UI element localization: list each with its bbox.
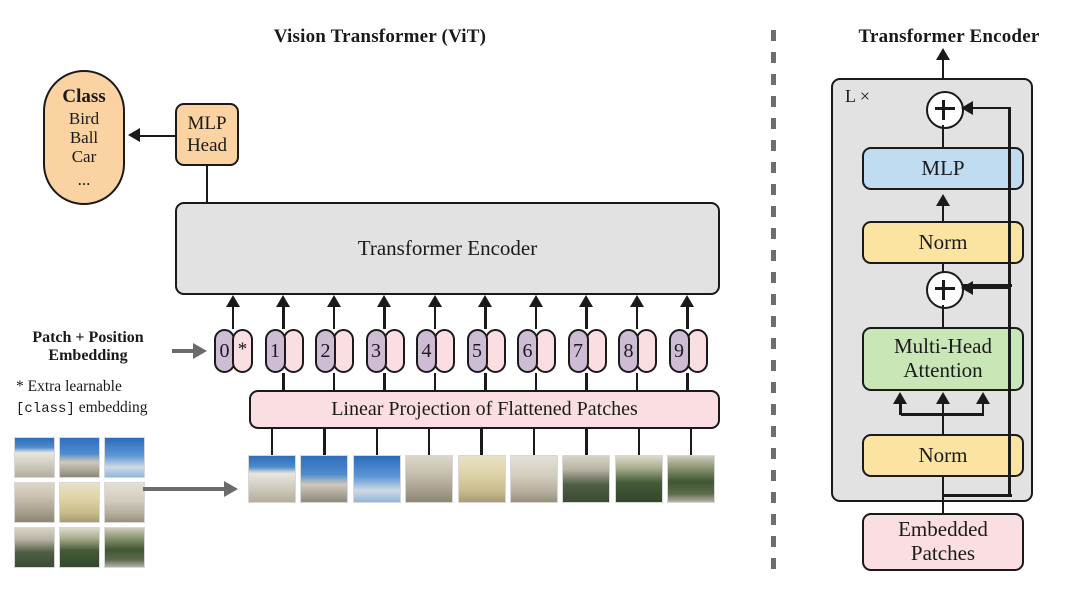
token-number-9: 9: [669, 329, 690, 373]
linear-projection-to-token-line-4: [434, 373, 437, 391]
mha-label-line1: Multi-Head: [894, 335, 992, 359]
token-6: 6: [517, 329, 556, 373]
flattened-patch-4: [458, 455, 506, 503]
token-number-1: 1: [265, 329, 286, 373]
mlp-block-label: MLP: [921, 157, 964, 181]
token-to-encoder-arrowhead-8: [630, 295, 644, 307]
residual-bottom-vline-right: [1008, 288, 1011, 496]
transformer-encoder-block: Transformer Encoder: [175, 202, 720, 295]
flattened-patch-6: [562, 455, 610, 503]
patch-to-linear-projection-line-7: [638, 428, 641, 456]
token-to-encoder-line-1: [282, 307, 285, 329]
token-position-8: [636, 329, 657, 373]
token-to-encoder-arrowhead-1: [276, 295, 290, 307]
encoder-to-mlp-head-line: [206, 166, 209, 202]
token-position-5: [485, 329, 506, 373]
linear-projection-to-token-line-9: [686, 373, 689, 391]
token-number-5: 5: [467, 329, 488, 373]
class-item-ellipsis: ...: [78, 170, 91, 189]
residual-top-vline-right: [1008, 108, 1011, 287]
token-number-7: 7: [568, 329, 589, 373]
linear-projection-to-token-line-6: [535, 373, 538, 391]
class-item-ball: Ball: [70, 128, 98, 147]
token-number-6: 6: [517, 329, 538, 373]
token-9: 9: [669, 329, 708, 373]
token-to-encoder-arrowhead-6: [529, 295, 543, 307]
embedding-label-arrowhead: [193, 343, 207, 359]
class-item-car: Car: [72, 147, 97, 166]
token-to-encoder-line-2: [333, 307, 336, 329]
token-position-1: [283, 329, 304, 373]
mlp-to-class-arrowhead: [128, 128, 140, 142]
qkv-arrow-q-line: [899, 404, 902, 415]
embedded-patches-line1: Embedded: [898, 518, 988, 542]
linear-projection-to-token-line-7: [585, 373, 588, 391]
source-patch-r2-c0: [14, 527, 55, 568]
patch-to-linear-projection-line-8: [690, 428, 693, 456]
qkv-arrow-k-line: [942, 404, 945, 434]
mlp-block: MLP: [862, 147, 1024, 190]
source-patch-r1-c2: [104, 482, 145, 523]
patch-to-linear-projection-line-0: [271, 428, 274, 456]
token-to-encoder-line-3: [383, 307, 386, 329]
patch-to-linear-projection-line-5: [533, 428, 536, 456]
qkv-arrow-q-head: [893, 392, 907, 404]
qkv-arrow-v-line: [982, 404, 985, 415]
panel-divider: [771, 30, 776, 570]
token-1: 1: [265, 329, 304, 373]
qkv-arrow-k-head: [936, 392, 950, 404]
embedded-patches-box: Embedded Patches: [862, 513, 1024, 571]
flattened-patch-5: [510, 455, 558, 503]
embedding-label-line1: Patch + Position: [8, 329, 168, 347]
token-to-encoder-line-5: [484, 307, 487, 329]
source-patch-r0-c2: [104, 437, 145, 478]
source-patch-r0-c0: [14, 437, 55, 478]
residual-top-arrowhead: [961, 101, 973, 115]
norm-block-upper: Norm: [862, 221, 1024, 264]
token-to-encoder-line-7: [585, 307, 588, 329]
linear-projection-to-token-line-2: [333, 373, 336, 391]
linear-projection-to-token-line-1: [282, 373, 285, 391]
mlp-to-class-line: [139, 135, 175, 138]
flattened-patch-2: [353, 455, 401, 503]
patch-position-embedding-label: Patch + Position Embedding: [8, 329, 168, 366]
source-patch-r1-c1: [59, 482, 100, 523]
token-to-encoder-line-9: [686, 307, 689, 329]
mlp-head-line2: Head: [187, 135, 227, 156]
patch-to-linear-projection-line-4: [480, 428, 483, 456]
class-token-star: *: [232, 329, 253, 373]
token-position-7: [586, 329, 607, 373]
token-number-8: 8: [618, 329, 639, 373]
token-position-6: [535, 329, 556, 373]
token-to-encoder-arrowhead-2: [327, 295, 341, 307]
patch-grid-arrow-line: [143, 487, 227, 491]
residual-bottom-hline-lower: [942, 494, 1012, 497]
token-to-encoder-arrowhead-5: [478, 295, 492, 307]
token-position-2: [333, 329, 354, 373]
source-patch-r1-c0: [14, 482, 55, 523]
token-3: 3: [366, 329, 405, 373]
flattened-patch-7: [615, 455, 663, 503]
patch-grid-arrowhead: [224, 481, 238, 497]
mlp-head-line1: MLP: [187, 113, 226, 134]
token-to-encoder-arrowhead-4: [428, 295, 442, 307]
residual-bottom-arrowhead: [961, 281, 973, 295]
token-to-encoder-line-0: [232, 307, 235, 329]
class-item-bird: Bird: [69, 109, 99, 128]
token-to-encoder-arrowhead-3: [377, 295, 391, 307]
token-to-encoder-line-4: [434, 307, 437, 329]
patch-to-linear-projection-line-3: [428, 428, 431, 456]
token-to-encoder-arrowhead-0: [226, 295, 240, 307]
linear-projection-label: Linear Projection of Flattened Patches: [331, 398, 638, 420]
norm-upper-label: Norm: [919, 231, 968, 255]
mlp-head-box: MLP Head: [175, 103, 239, 166]
repeat-count-label: L ×: [845, 86, 870, 107]
token-position-3: [384, 329, 405, 373]
token-to-encoder-arrowhead-9: [680, 295, 694, 307]
norm2-to-mlp-arrowhead: [936, 194, 950, 206]
mlp-to-add-top-line: [942, 125, 945, 147]
source-patch-r2-c2: [104, 527, 145, 568]
residual-top-hline-upper: [972, 107, 1011, 110]
token-to-encoder-line-8: [636, 307, 639, 329]
token-7: 7: [568, 329, 607, 373]
flattened-patch-0: [248, 455, 296, 503]
residual-add-top: [926, 91, 964, 129]
token-number-2: 2: [315, 329, 336, 373]
token-5: 5: [467, 329, 506, 373]
token-0: 0*: [214, 329, 253, 373]
token-4: 4: [416, 329, 455, 373]
linear-projection-to-token-line-5: [484, 373, 487, 391]
flattened-patch-1: [300, 455, 348, 503]
patch-to-linear-projection-line-2: [376, 428, 379, 456]
footnote-line2-rest: embedding: [75, 399, 148, 416]
token-number-4: 4: [416, 329, 437, 373]
embedded-patches-line2: Patches: [911, 542, 975, 566]
source-patch-r0-c1: [59, 437, 100, 478]
norm-block-lower: Norm: [862, 434, 1024, 477]
right-panel-title: Transformer Encoder: [818, 26, 1080, 48]
class-token-footnote: * Extra learnable [class] embedding: [16, 377, 196, 419]
token-2: 2: [315, 329, 354, 373]
patch-to-linear-projection-line-6: [585, 428, 588, 456]
footnote-class-code: [class]: [16, 401, 75, 417]
class-output-pill: Class Bird Ball Car ...: [43, 70, 125, 205]
mha-label-line2: Attention: [903, 359, 982, 383]
embedding-label-line2: Embedding: [8, 347, 168, 365]
mha-to-add-bottom-line: [942, 305, 945, 327]
token-to-encoder-line-6: [535, 307, 538, 329]
qkv-arrow-v-head: [976, 392, 990, 404]
multi-head-attention-block: Multi-Head Attention: [862, 327, 1024, 391]
residual-bottom-hline-upper: [972, 287, 1011, 290]
linear-projection-to-token-line-3: [383, 373, 386, 391]
left-panel-title: Vision Transformer (ViT): [190, 26, 570, 48]
source-patch-r2-c1: [59, 527, 100, 568]
residual-add-bottom: [926, 271, 964, 309]
linear-projection-bar: Linear Projection of Flattened Patches: [249, 390, 720, 429]
token-to-encoder-arrowhead-7: [579, 295, 593, 307]
linear-projection-to-token-line-8: [636, 373, 639, 391]
token-position-9: [687, 329, 708, 373]
token-8: 8: [618, 329, 657, 373]
token-number-3: 3: [366, 329, 387, 373]
token-position-4: [434, 329, 455, 373]
encoder-output-arrowhead: [936, 48, 950, 60]
class-heading: Class: [62, 86, 105, 107]
footnote-line1: * Extra learnable: [16, 377, 196, 398]
flattened-patch-3: [405, 455, 453, 503]
norm-lower-label: Norm: [919, 444, 968, 468]
flattened-patch-8: [667, 455, 715, 503]
transformer-encoder-label: Transformer Encoder: [358, 237, 537, 261]
patch-to-linear-projection-line-1: [323, 428, 326, 456]
